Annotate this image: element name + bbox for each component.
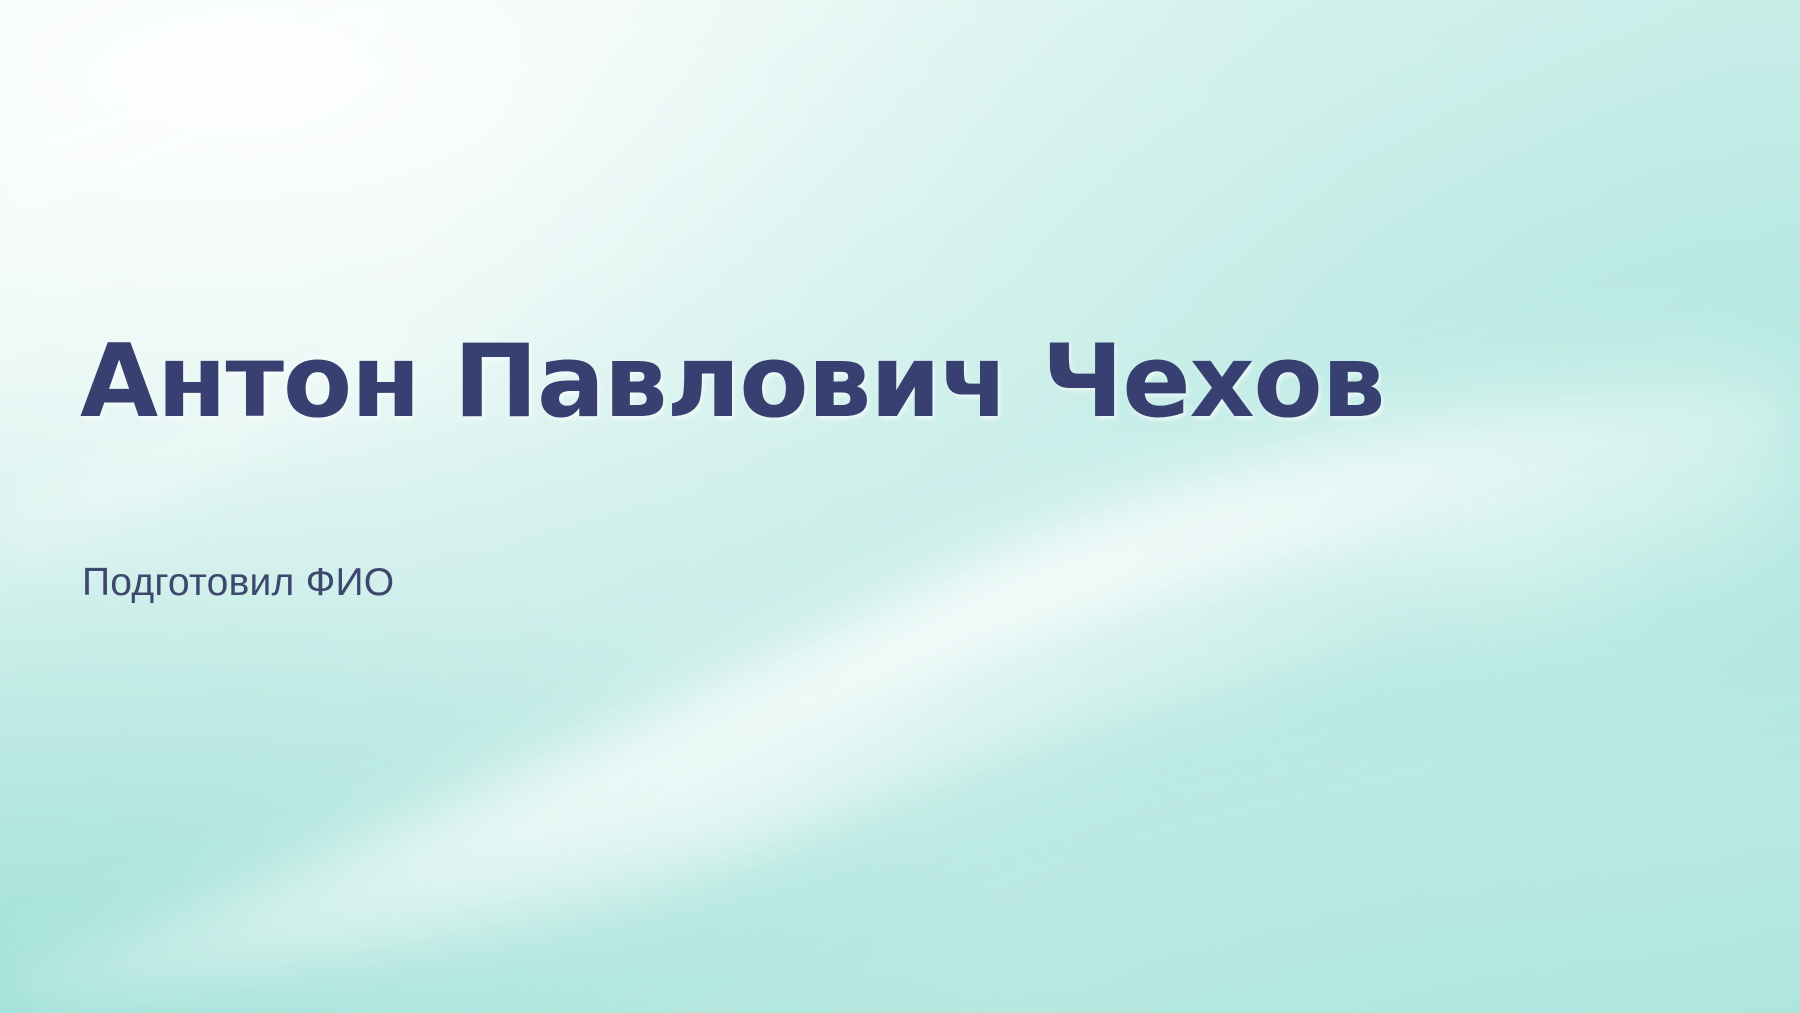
slide-content: Антон Павлович Чехов Подготовил ФИО <box>80 0 1720 1013</box>
slide-subtitle: Подготовил ФИО <box>82 558 394 609</box>
slide-title: Антон Павлович Чехов <box>80 327 1384 436</box>
title-slide: Антон Павлович Чехов Подготовил ФИО <box>0 0 1800 1013</box>
